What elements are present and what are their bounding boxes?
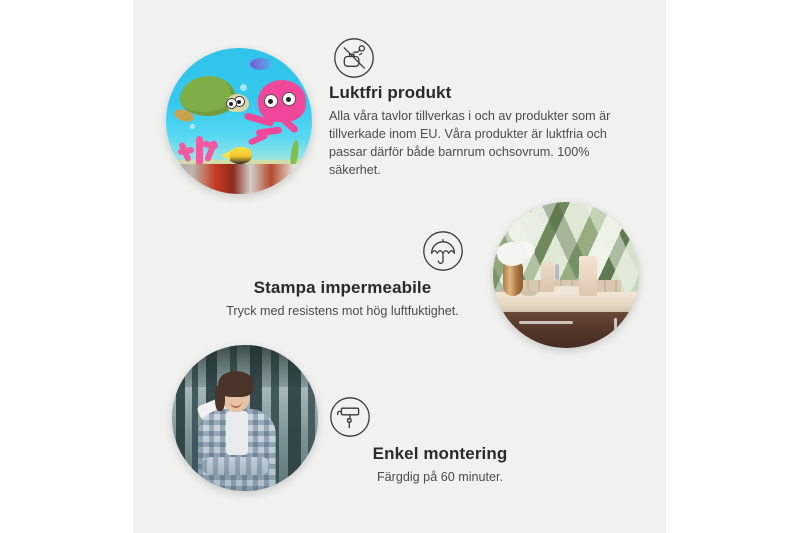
octopus-eye <box>264 94 278 108</box>
icon-row <box>205 230 480 272</box>
wood-vanity-cabinet <box>493 312 639 348</box>
faucet <box>555 264 559 280</box>
paint-roller-icon <box>329 396 371 438</box>
feature-title: Luktfri produkt <box>329 83 625 103</box>
underwater-cartoon-mural-circle <box>166 48 312 194</box>
feature-body: Alla våra tavlor tillverkas i och av pro… <box>329 108 625 180</box>
bathroom-botanical-wallpaper-circle <box>493 202 639 348</box>
bubble-icon <box>240 84 247 91</box>
room-photo-strip <box>166 164 312 194</box>
woman-hair <box>218 371 254 397</box>
woman-paint-roller-forest-mural-circle <box>172 345 318 491</box>
umbrella-icon <box>422 230 464 272</box>
no-odour-spray-bottle-icon <box>333 37 375 79</box>
page-canvas: Luktfri produkt Alla våra tavlor tillver… <box>0 0 800 533</box>
towel <box>541 262 554 292</box>
feature-title: Stampa impermeabile <box>205 278 480 298</box>
feature-waterproof: Stampa impermeabile Tryck med resistens … <box>205 230 480 321</box>
butterfly-fish <box>228 147 252 164</box>
feature-title: Enkel montering <box>315 444 565 464</box>
vase <box>503 262 523 296</box>
purple-fish <box>250 58 272 70</box>
woman-folded-arms <box>202 457 270 475</box>
feature-body: Tryck med resistens mot hög luftfuktighe… <box>205 303 480 321</box>
feature-easy-mount: Enkel montering Färgdig på 60 minuter. <box>315 396 565 487</box>
towel <box>579 256 597 296</box>
octopus-eye <box>282 92 296 106</box>
sea-turtle <box>180 76 236 116</box>
icon-row <box>315 396 565 438</box>
turtle-eye <box>226 98 237 109</box>
feature-odourless: Luktfri produkt Alla våra tavlor tillver… <box>329 37 625 180</box>
woman-inner-shirt <box>226 411 248 455</box>
bubble-icon <box>190 124 195 129</box>
coral <box>178 132 222 166</box>
soap-dish <box>521 290 537 296</box>
white-flowers <box>497 242 527 266</box>
feature-body: Färgdig på 60 minuter. <box>315 469 565 487</box>
